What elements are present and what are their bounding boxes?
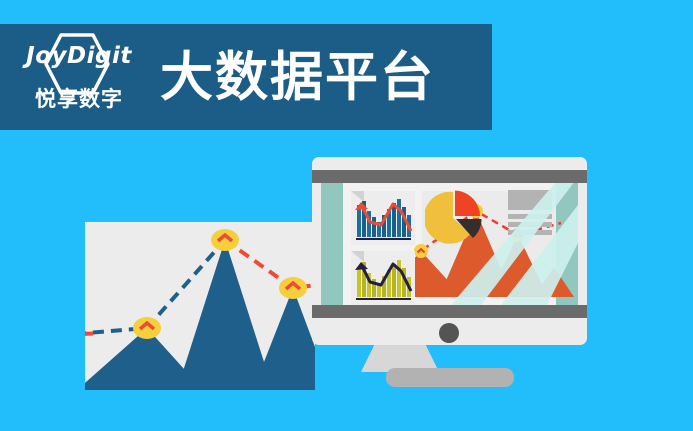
axis-line: [356, 298, 411, 300]
desktop-monitor: [312, 157, 587, 345]
document-header-block: [508, 190, 552, 210]
olive-bar-chart-graphic: [351, 251, 415, 305]
document-line: [508, 230, 552, 235]
bar: [397, 199, 401, 237]
monitor-base: [386, 368, 514, 387]
peak-marker: [279, 277, 307, 299]
blue-bar-chart-card: [351, 191, 415, 245]
axis-line: [356, 238, 411, 240]
header-banner: JoyDigit 悦享数字 大数据平台: [0, 24, 492, 130]
banner-canvas: JoyDigit 悦享数字 大数据平台: [0, 0, 693, 431]
peak-marker: [211, 229, 239, 251]
peak-marker: [133, 317, 161, 339]
bar: [397, 260, 401, 297]
brand-subtitle: 悦享数字: [14, 89, 144, 110]
bar: [392, 203, 396, 237]
bar: [357, 267, 361, 297]
bar: [392, 264, 396, 297]
document-placeholder: [508, 190, 552, 236]
mountain-shape-right: [253, 288, 315, 390]
trend-line-red-tip: [85, 334, 93, 335]
pie-chart: [425, 190, 483, 248]
mountain-chart-panel: [85, 222, 315, 390]
mountain-chart-graphic: [85, 222, 315, 390]
bar: [357, 205, 361, 237]
monitor-bezel-top: [312, 170, 587, 183]
bar: [372, 217, 376, 237]
brand-logo: JoyDigit 悦享数字: [14, 31, 144, 123]
olive-bar-chart-card: [351, 251, 415, 305]
brand-wordmark: JoyDigit: [14, 45, 144, 68]
monitor-power-button[interactable]: [439, 323, 459, 343]
monitor-bezel-bottom: [312, 305, 587, 318]
document-line: [508, 214, 552, 219]
blue-bar-chart-graphic: [351, 191, 415, 245]
page-title: 大数据平台: [160, 51, 435, 104]
document-line: [508, 222, 552, 227]
monitor-screen: [321, 183, 578, 305]
pie-slice-red: [455, 191, 480, 217]
